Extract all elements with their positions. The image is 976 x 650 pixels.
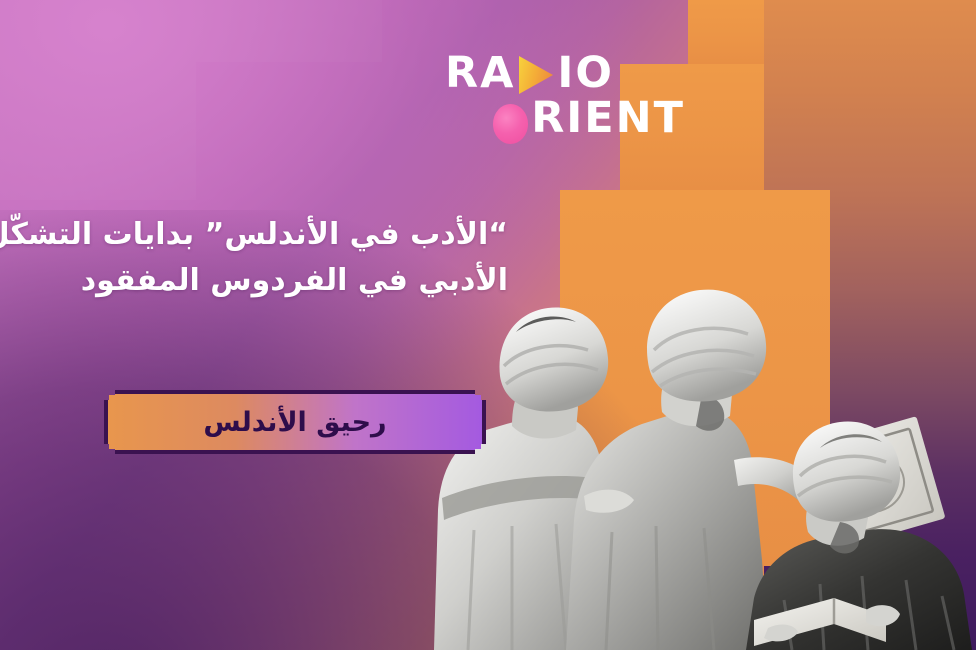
logo-text-radio-suffix: IO [557,52,614,95]
background-block-seam [0,0,196,200]
logo-line-1: RA IO [445,52,685,95]
radio-orient-logo[interactable]: RA IO RIENT [445,52,685,144]
logo-text-orient: RIENT [531,97,685,140]
logo-line-2: RIENT [493,97,685,140]
poster-canvas: RA IO RIENT “الأ [0,0,976,650]
background-block-seam [196,0,382,62]
circle-dot-icon [493,104,528,144]
logo-text-radio-prefix: RA [445,52,515,95]
show-name-button[interactable]: رحيق الأندلس [104,390,486,454]
background-right-column [764,0,976,650]
play-triangle-icon [517,53,555,95]
show-name-label: رحيق الأندلس [203,407,386,438]
